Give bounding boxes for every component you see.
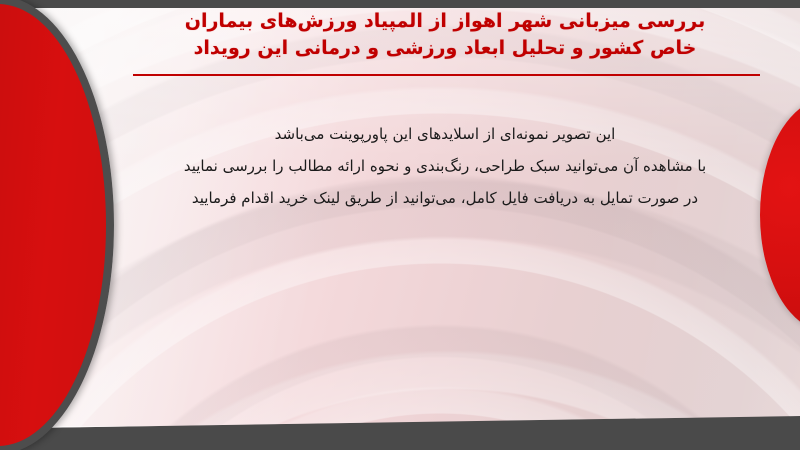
title-underline: [133, 74, 760, 76]
body-line-2: با مشاهده آن می‌توانید سبک طراحی، رنگ‌بن…: [120, 150, 770, 182]
slide-body-text: این تصویر نمونه‌ای از اسلایدهای این پاور…: [120, 118, 770, 214]
presentation-slide: بررسی میزبانی شهر اهواز از المپیاد ورزش‌…: [0, 0, 800, 450]
body-line-1: این تصویر نمونه‌ای از اسلایدهای این پاور…: [120, 118, 770, 150]
body-line-3: در صورت تمایل به دریافت فایل کامل، می‌تو…: [120, 182, 770, 214]
title-line-1: بررسی میزبانی شهر اهواز از المپیاد ورزش‌…: [120, 8, 770, 35]
slide-content-panel: [0, 0, 800, 450]
slide-title: بررسی میزبانی شهر اهواز از المپیاد ورزش‌…: [120, 8, 770, 62]
title-line-2: خاص کشور و تحلیل ابعاد ورزشی و درمانی ای…: [120, 35, 770, 62]
